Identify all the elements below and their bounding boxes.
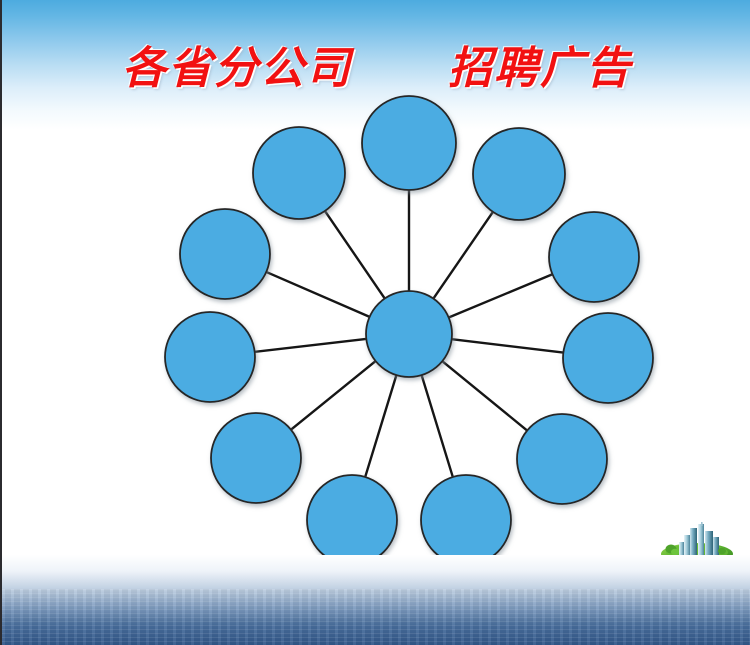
node-left-upper[interactable]	[180, 209, 270, 299]
node-upper-left[interactable]	[253, 127, 345, 219]
node-right-upper[interactable]	[549, 212, 639, 302]
diagram-svg	[2, 0, 750, 645]
slide-canvas: 各省分公司招聘广告	[0, 0, 750, 645]
node-top[interactable]	[362, 96, 456, 190]
node-upper-right[interactable]	[473, 128, 565, 220]
node-bottom-left[interactable]	[307, 475, 397, 565]
node-right-mid[interactable]	[563, 313, 653, 403]
spoke-line-left-mid	[254, 339, 368, 352]
spoke-line-left-upper	[265, 272, 370, 318]
spoke-line-right-upper	[448, 274, 554, 318]
node-bottom-right[interactable]	[421, 475, 511, 565]
node-lower-left[interactable]	[211, 413, 301, 503]
spoke-line-bottom-left	[365, 374, 397, 478]
hub-and-spoke-diagram	[2, 0, 750, 645]
spoke-line-upper-right	[433, 211, 494, 299]
spoke-line-lower-right	[442, 361, 528, 432]
ocean-water-background	[2, 555, 750, 645]
spoke-line-lower-left	[290, 360, 376, 430]
spoke-line-bottom-right	[421, 374, 453, 478]
center-hub-node[interactable]	[366, 291, 452, 377]
spoke-line-upper-left	[324, 210, 385, 299]
spoke-line-right-mid	[451, 339, 565, 353]
center-hub-circle[interactable]	[366, 291, 452, 377]
node-lower-right[interactable]	[517, 414, 607, 504]
node-left-mid[interactable]	[165, 312, 255, 402]
